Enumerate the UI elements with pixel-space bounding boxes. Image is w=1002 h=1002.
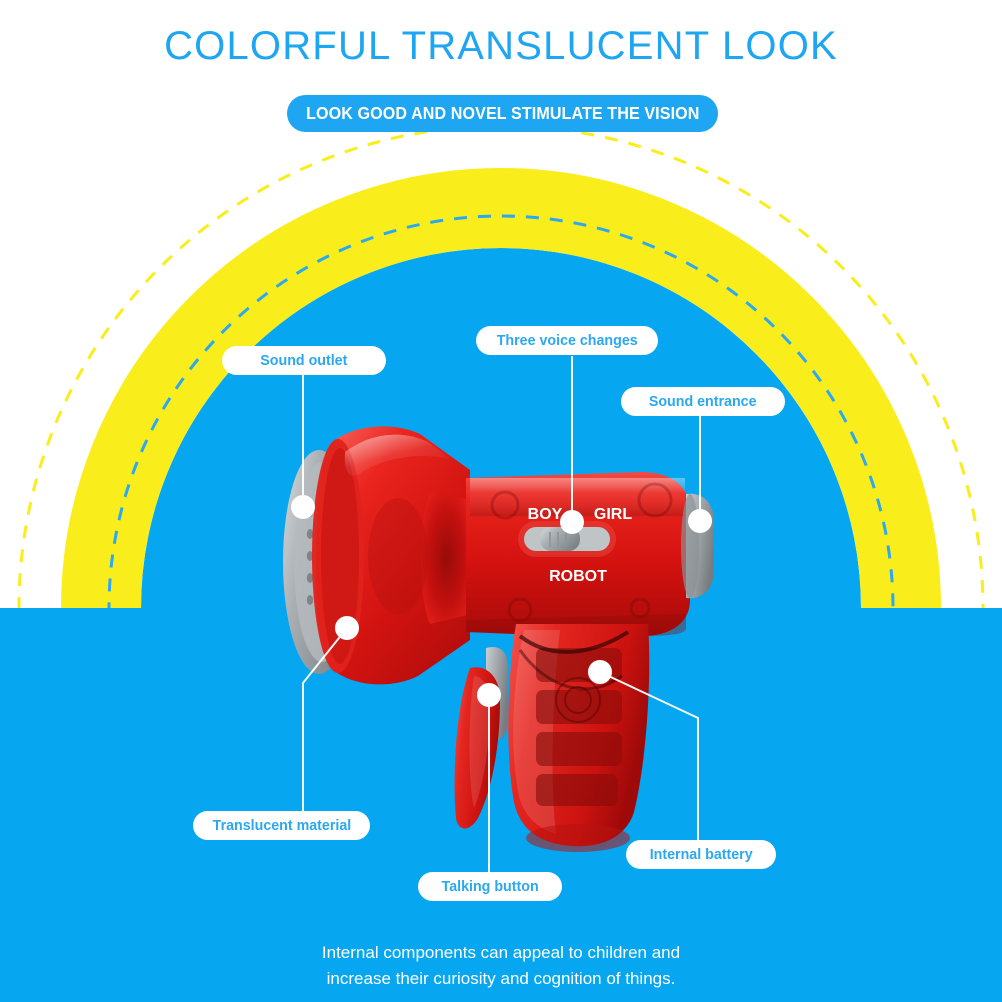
dot-translucent-material — [335, 616, 359, 640]
dot-sound-outlet — [291, 495, 315, 519]
leader-internal-battery — [600, 672, 698, 840]
dot-three-voice-changes — [560, 510, 584, 534]
callout-label-internal-battery: Internal battery — [650, 846, 753, 863]
footer-caption: Internal components can appeal to childr… — [0, 940, 1002, 992]
dot-sound-entrance — [688, 509, 712, 533]
footer-line-1: Internal components can appeal to childr… — [0, 940, 1002, 966]
leader-translucent-material — [303, 628, 347, 811]
footer-line-2: increase their curiosity and cognition o… — [0, 966, 1002, 992]
callout-translucent-material[interactable]: Translucent material — [193, 811, 370, 840]
callout-label-three-voice-changes: Three voice changes — [497, 332, 638, 349]
callout-talking-button[interactable]: Talking button — [418, 872, 562, 901]
callout-sound-outlet[interactable]: Sound outlet — [222, 346, 386, 375]
infographic-page: COLORFUL TRANSLUCENT LOOK LOOK GOOD AND … — [0, 0, 1002, 1002]
callout-anchor-dots — [291, 495, 712, 707]
callout-label-translucent-material: Translucent material — [212, 817, 351, 834]
callout-label-sound-outlet: Sound outlet — [260, 352, 347, 369]
callout-sound-entrance[interactable]: Sound entrance — [621, 387, 785, 416]
callout-internal-battery[interactable]: Internal battery — [626, 840, 776, 869]
dot-internal-battery — [588, 660, 612, 684]
callout-label-talking-button: Talking button — [441, 878, 538, 895]
callout-leader-lines — [0, 0, 1002, 1002]
dot-talking-button — [477, 683, 501, 707]
callout-label-sound-entrance: Sound entrance — [649, 393, 757, 410]
callout-three-voice-changes[interactable]: Three voice changes — [476, 326, 658, 355]
